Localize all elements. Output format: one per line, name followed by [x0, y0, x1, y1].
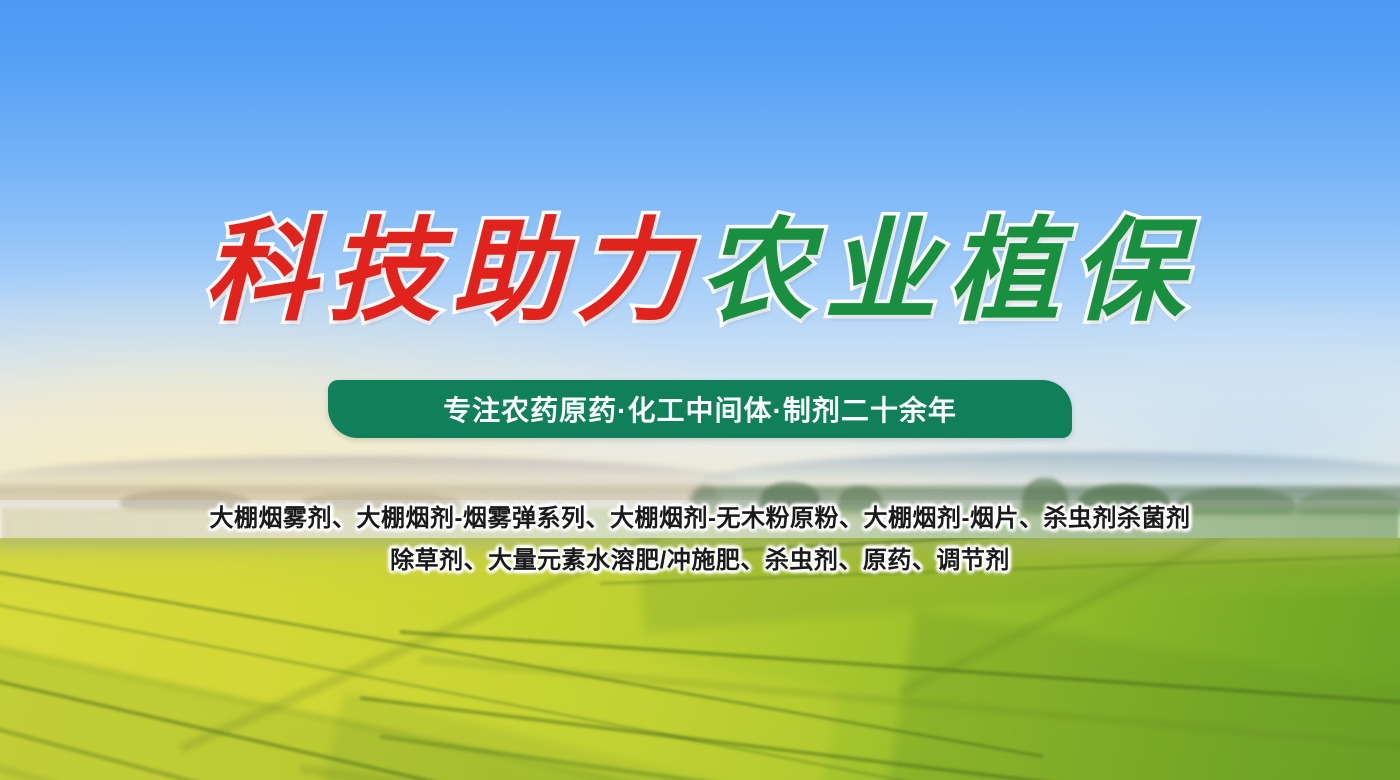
product-list: 大棚烟雾剂、大棚烟剂-烟雾弹系列、大棚烟剂-无木粉原粉、大棚烟剂-烟片、杀虫剂杀… — [0, 498, 1400, 582]
headline-segment-red: 科技助力 — [204, 206, 700, 337]
main-headline: 科技助力农业植保 — [0, 206, 1400, 338]
product-line: 除草剂、大量元素水溶肥/冲施肥、杀虫剂、原药、调节剂 — [0, 540, 1400, 582]
promo-banner: 科技助力农业植保 专注农药原药·化工中间体·制剂二十余年 大棚烟雾剂、大棚烟剂-… — [0, 0, 1400, 780]
product-line: 大棚烟雾剂、大棚烟剂-烟雾弹系列、大棚烟剂-无木粉原粉、大棚烟剂-烟片、杀虫剂杀… — [0, 498, 1400, 540]
subtitle-text: 专注农药原药·化工中间体·制剂二十余年 — [443, 389, 957, 429]
subtitle-pill: 专注农药原药·化工中间体·制剂二十余年 — [328, 380, 1072, 438]
headline-segment-green: 农业植保 — [700, 206, 1196, 337]
